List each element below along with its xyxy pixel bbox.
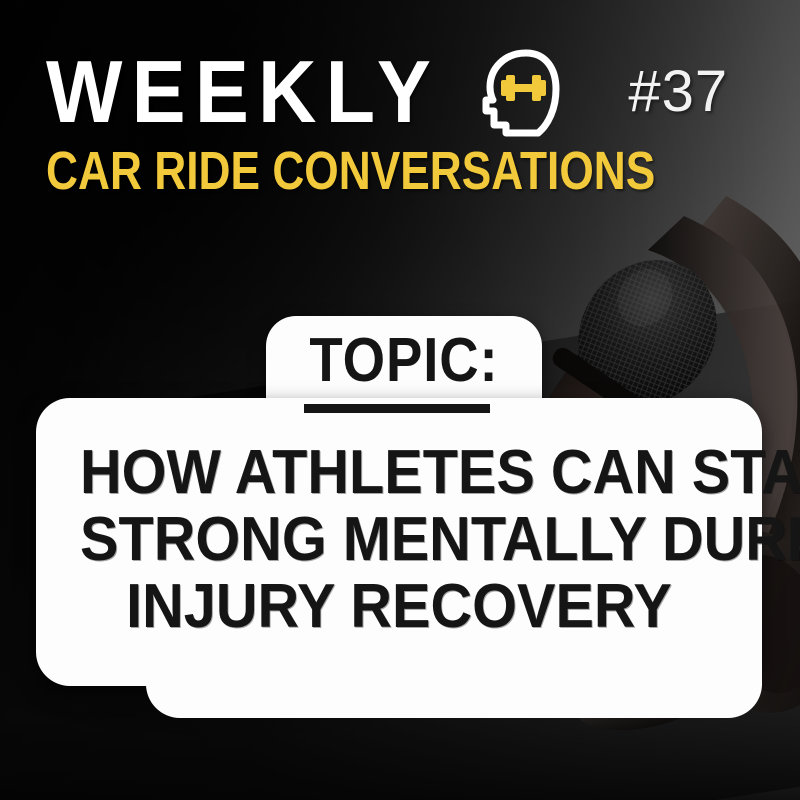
podcast-cover-poster: WEEKLY #37 CAR RIDE CONVERSATIONS TOPIC:… xyxy=(0,0,800,800)
topic-line-1: HOW ATHLETES CAN STAY xyxy=(80,440,718,507)
topic-body: HOW ATHLETES CAN STAY STRONG MENTALLY DU… xyxy=(56,440,742,641)
topic-label-underline xyxy=(304,404,490,413)
header: WEEKLY #37 CAR RIDE CONVERSATIONS xyxy=(46,46,766,198)
head-dumbbell-icon xyxy=(480,47,562,139)
topic-label: TOPIC: xyxy=(283,330,526,392)
topic-card-foot xyxy=(146,660,762,718)
episode-number: #37 xyxy=(628,63,728,121)
topic-line-2: STRONG MENTALLY DURING xyxy=(80,507,718,574)
page-title: WEEKLY xyxy=(46,56,440,128)
topic-line-3: INJURY RECOVERY xyxy=(80,574,718,641)
brand-row: WEEKLY #37 xyxy=(46,46,766,138)
show-subtitle: CAR RIDE CONVERSATIONS xyxy=(46,144,636,198)
dumbbell-glyph xyxy=(501,75,546,101)
